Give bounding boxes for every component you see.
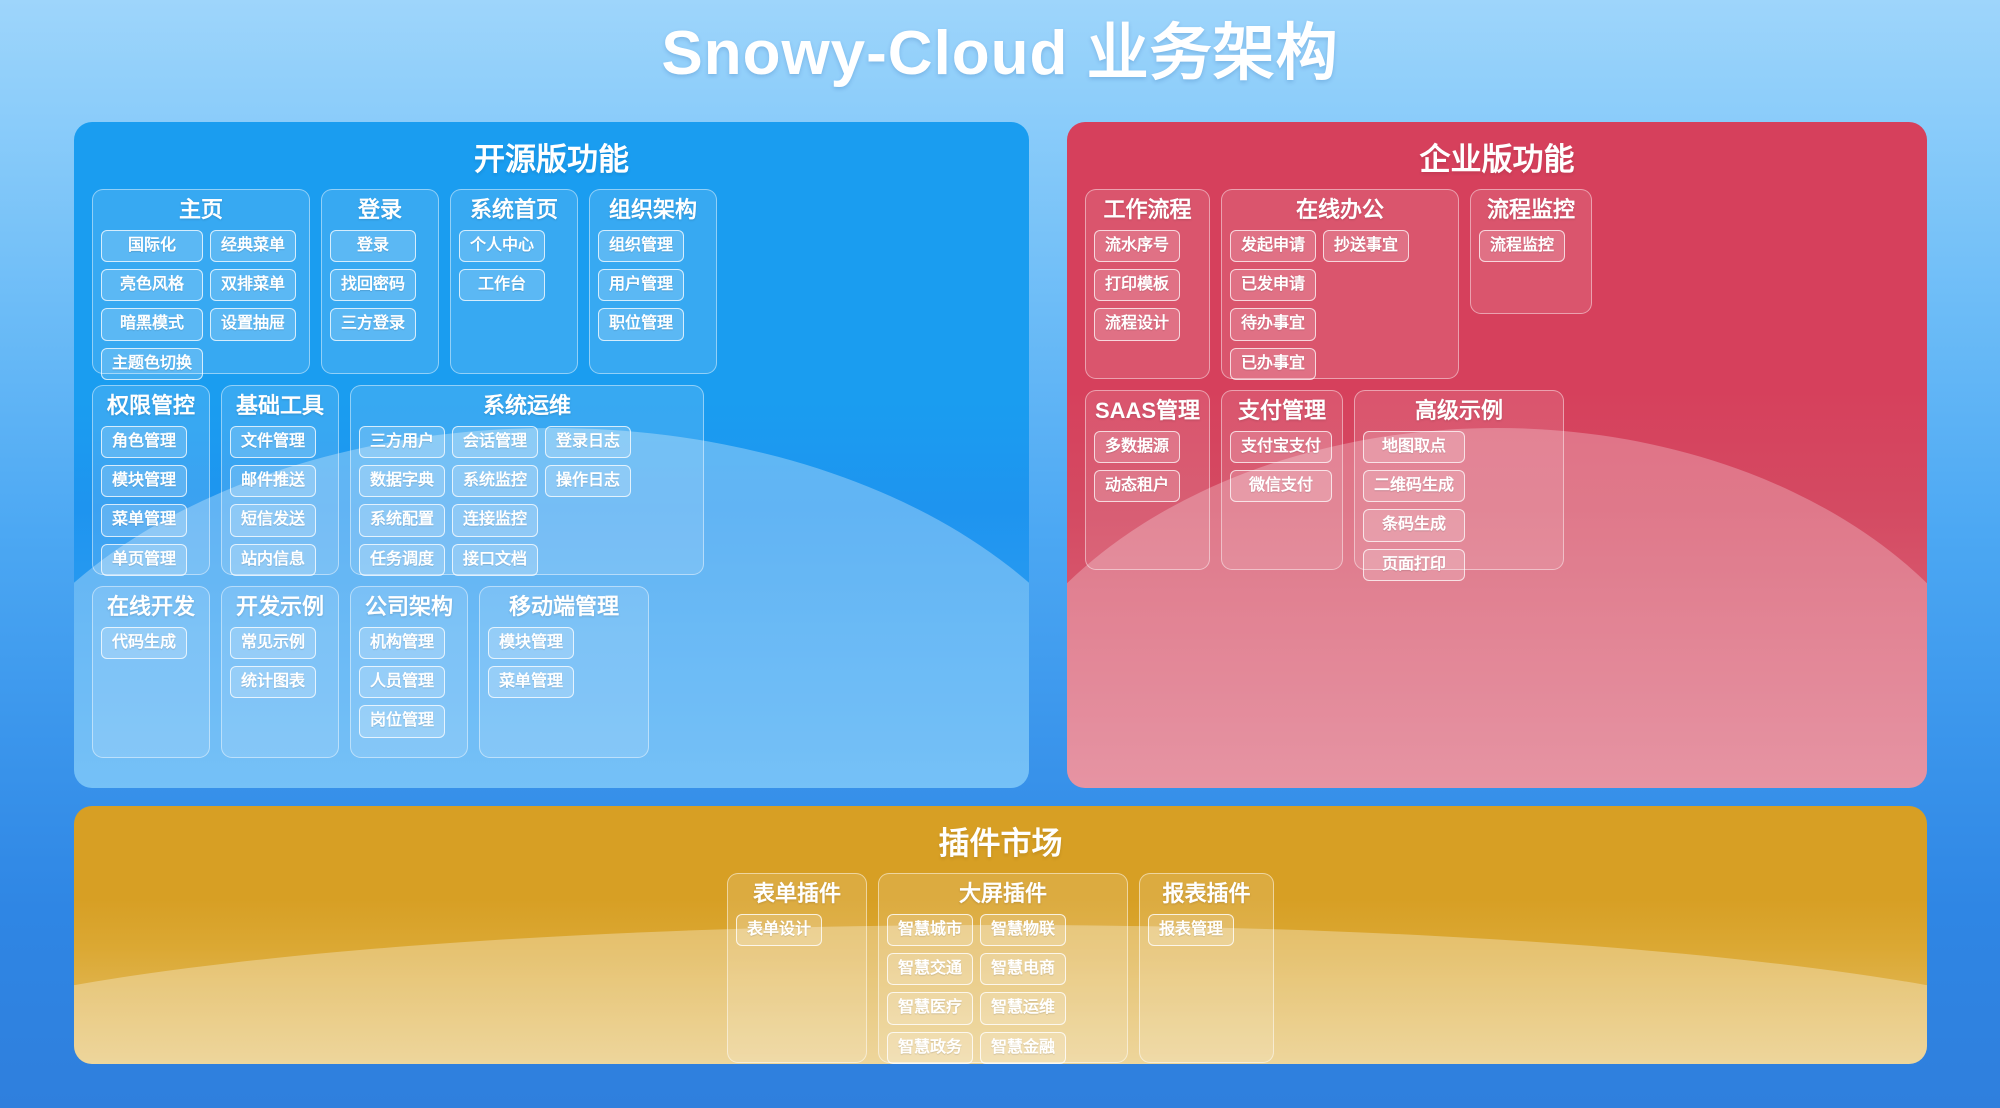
- group-登录: 登录登录找回密码三方登录: [321, 189, 439, 374]
- feature-chip-登录[interactable]: 登录: [330, 230, 416, 262]
- group-column: 登录日志操作日志: [545, 426, 631, 577]
- group-columns: 表单设计: [736, 914, 858, 946]
- group-表单插件: 表单插件表单设计: [727, 873, 867, 1063]
- group-column: 抄送事宜: [1323, 230, 1409, 381]
- feature-chip-菜单管理[interactable]: 菜单管理: [101, 504, 187, 536]
- group-columns: 个人中心工作台: [459, 230, 569, 302]
- feature-chip-地图取点[interactable]: 地图取点: [1363, 431, 1465, 463]
- feature-chip-任务调度[interactable]: 任务调度: [359, 544, 445, 576]
- feature-chip-抄送事宜[interactable]: 抄送事宜: [1323, 230, 1409, 262]
- group-column: 组织管理用户管理职位管理: [598, 230, 684, 341]
- group-column: 智慧城市智慧交通智慧医疗智慧政务: [887, 914, 973, 1065]
- feature-chip-单页管理[interactable]: 单页管理: [101, 544, 187, 576]
- open-source-panel: 开源版功能 主页国际化亮色风格暗黑模式主题色切换经典菜单双排菜单设置抽屉登录登录…: [74, 122, 1029, 788]
- feature-chip-智慧电商[interactable]: 智慧电商: [980, 953, 1066, 985]
- group-columns: 国际化亮色风格暗黑模式主题色切换经典菜单双排菜单设置抽屉: [101, 230, 301, 381]
- feature-chip-发起申请[interactable]: 发起申请: [1230, 230, 1316, 262]
- feature-chip-打印模板[interactable]: 打印模板: [1094, 269, 1180, 301]
- page-title: Snowy-Cloud 业务架构: [0, 0, 2000, 96]
- group-columns: 登录找回密码三方登录: [330, 230, 430, 341]
- group-columns: 模块管理菜单管理: [488, 627, 640, 699]
- feature-chip-常见示例[interactable]: 常见示例: [230, 627, 316, 659]
- group-column: 发起申请已发申请待办事宜已办事宜: [1230, 230, 1316, 381]
- group-title: 开发示例: [230, 593, 330, 621]
- group-column: 经典菜单双排菜单设置抽屉: [210, 230, 296, 381]
- group-title: 支付管理: [1230, 397, 1334, 425]
- feature-chip-统计图表[interactable]: 统计图表: [230, 666, 316, 698]
- group-title: 在线办公: [1230, 196, 1450, 224]
- plugin-market-rows: 表单插件表单设计大屏插件智慧城市智慧交通智慧医疗智慧政务智慧物联智慧电商智慧运维…: [92, 873, 1909, 1063]
- feature-chip-代码生成[interactable]: 代码生成: [101, 627, 187, 659]
- feature-chip-动态租户[interactable]: 动态租户: [1094, 470, 1180, 502]
- group-开发示例: 开发示例常见示例统计图表: [221, 586, 339, 758]
- plugin-market-panel-title: 插件市场: [92, 818, 1909, 863]
- feature-chip-主题色切换[interactable]: 主题色切换: [101, 348, 203, 380]
- group-columns: 发起申请已发申请待办事宜已办事宜抄送事宜: [1230, 230, 1450, 381]
- feature-chip-登录日志[interactable]: 登录日志: [545, 426, 631, 458]
- group-高级示例: 高级示例地图取点二维码生成条码生成页面打印: [1354, 390, 1564, 570]
- feature-chip-流程监控[interactable]: 流程监控: [1479, 230, 1565, 262]
- group-大屏插件: 大屏插件智慧城市智慧交通智慧医疗智慧政务智慧物联智慧电商智慧运维智慧金融: [878, 873, 1128, 1063]
- feature-chip-经典菜单[interactable]: 经典菜单: [210, 230, 296, 262]
- group-row: 在线开发代码生成开发示例常见示例统计图表公司架构机构管理人员管理岗位管理移动端管…: [92, 586, 1011, 758]
- group-title: 登录: [330, 196, 430, 224]
- feature-chip-微信支付[interactable]: 微信支付: [1230, 470, 1332, 502]
- group-column: 代码生成: [101, 627, 187, 659]
- feature-chip-数据字典[interactable]: 数据字典: [359, 465, 445, 497]
- feature-chip-智慧城市[interactable]: 智慧城市: [887, 914, 973, 946]
- group-报表插件: 报表插件报表管理: [1139, 873, 1274, 1063]
- feature-chip-菜单管理[interactable]: 菜单管理: [488, 666, 574, 698]
- group-saas管理: SAAS管理多数据源动态租户: [1085, 390, 1210, 570]
- group-column: 三方用户数据字典系统配置任务调度: [359, 426, 445, 577]
- group-在线办公: 在线办公发起申请已发申请待办事宜已办事宜抄送事宜: [1221, 189, 1459, 379]
- feature-chip-智慧政务[interactable]: 智慧政务: [887, 1032, 973, 1064]
- group-column: 流水序号打印模板流程设计: [1094, 230, 1180, 341]
- group-移动端管理: 移动端管理模块管理菜单管理: [479, 586, 649, 758]
- group-columns: 代码生成: [101, 627, 201, 659]
- feature-chip-找回密码[interactable]: 找回密码: [330, 269, 416, 301]
- feature-chip-会话管理[interactable]: 会话管理: [452, 426, 538, 458]
- group-column: 会话管理系统监控连接监控接口文档: [452, 426, 538, 577]
- feature-chip-连接监控[interactable]: 连接监控: [452, 504, 538, 536]
- feature-chip-系统配置[interactable]: 系统配置: [359, 504, 445, 536]
- group-columns: 多数据源动态租户: [1094, 431, 1201, 503]
- feature-chip-接口文档[interactable]: 接口文档: [452, 544, 538, 576]
- group-row: 工作流程流水序号打印模板流程设计在线办公发起申请已发申请待办事宜已办事宜抄送事宜…: [1085, 189, 1909, 379]
- group-columns: 常见示例统计图表: [230, 627, 330, 699]
- group-columns: 文件管理邮件推送短信发送站内信息: [230, 426, 330, 577]
- group-column: 表单设计: [736, 914, 822, 946]
- group-公司架构: 公司架构机构管理人员管理岗位管理: [350, 586, 468, 758]
- group-title: 基础工具: [230, 392, 330, 420]
- group-columns: 流程监控: [1479, 230, 1583, 262]
- group-在线开发: 在线开发代码生成: [92, 586, 210, 758]
- group-title: 主页: [101, 196, 301, 224]
- feature-chip-机构管理[interactable]: 机构管理: [359, 627, 445, 659]
- group-column: 角色管理模块管理菜单管理单页管理: [101, 426, 187, 577]
- group-column: 机构管理人员管理岗位管理: [359, 627, 445, 738]
- group-column: 个人中心工作台: [459, 230, 545, 302]
- group-column: 登录找回密码三方登录: [330, 230, 416, 341]
- feature-chip-个人中心[interactable]: 个人中心: [459, 230, 545, 262]
- group-title: 高级示例: [1363, 397, 1555, 425]
- group-title: 系统运维: [359, 392, 695, 420]
- group-系统首页: 系统首页个人中心工作台: [450, 189, 578, 374]
- feature-chip-角色管理[interactable]: 角色管理: [101, 426, 187, 458]
- enterprise-board: 企业版功能 工作流程流水序号打印模板流程设计在线办公发起申请已发申请待办事宜已办…: [1067, 122, 1927, 788]
- feature-chip-双排菜单[interactable]: 双排菜单: [210, 269, 296, 301]
- group-row: 主页国际化亮色风格暗黑模式主题色切换经典菜单双排菜单设置抽屉登录登录找回密码三方…: [92, 189, 1011, 374]
- group-column: 智慧物联智慧电商智慧运维智慧金融: [980, 914, 1066, 1065]
- group-title: 公司架构: [359, 593, 459, 621]
- enterprise-rows: 工作流程流水序号打印模板流程设计在线办公发起申请已发申请待办事宜已办事宜抄送事宜…: [1085, 189, 1909, 570]
- group-支付管理: 支付管理支付宝支付微信支付: [1221, 390, 1343, 570]
- group-流程监控: 流程监控流程监控: [1470, 189, 1592, 314]
- feature-chip-二维码生成[interactable]: 二维码生成: [1363, 470, 1465, 502]
- feature-chip-模块管理[interactable]: 模块管理: [488, 627, 574, 659]
- group-column: 流程监控: [1479, 230, 1565, 262]
- group-title: 在线开发: [101, 593, 201, 621]
- feature-chip-暗黑模式[interactable]: 暗黑模式: [101, 308, 203, 340]
- feature-chip-页面打印[interactable]: 页面打印: [1363, 549, 1465, 581]
- feature-chip-智慧交通[interactable]: 智慧交通: [887, 953, 973, 985]
- open-source-panel-title: 开源版功能: [92, 134, 1011, 179]
- feature-chip-岗位管理[interactable]: 岗位管理: [359, 705, 445, 737]
- group-title: 流程监控: [1479, 196, 1583, 224]
- group-title: 组织架构: [598, 196, 708, 224]
- feature-chip-智慧运维[interactable]: 智慧运维: [980, 992, 1066, 1024]
- feature-chip-文件管理[interactable]: 文件管理: [230, 426, 316, 458]
- feature-chip-多数据源[interactable]: 多数据源: [1094, 431, 1180, 463]
- group-基础工具: 基础工具文件管理邮件推送短信发送站内信息: [221, 385, 339, 575]
- feature-chip-待办事宜[interactable]: 待办事宜: [1230, 308, 1316, 340]
- group-column: 报表管理: [1148, 914, 1234, 946]
- group-column: 模块管理菜单管理: [488, 627, 574, 699]
- feature-chip-三方登录[interactable]: 三方登录: [330, 308, 416, 340]
- feature-chip-智慧医疗[interactable]: 智慧医疗: [887, 992, 973, 1024]
- feature-chip-系统监控[interactable]: 系统监控: [452, 465, 538, 497]
- feature-chip-流程设计[interactable]: 流程设计: [1094, 308, 1180, 340]
- group-columns: 机构管理人员管理岗位管理: [359, 627, 459, 738]
- open-source-board: 开源版功能 主页国际化亮色风格暗黑模式主题色切换经典菜单双排菜单设置抽屉登录登录…: [74, 122, 1029, 788]
- group-权限管控: 权限管控角色管理模块管理菜单管理单页管理: [92, 385, 210, 575]
- group-columns: 组织管理用户管理职位管理: [598, 230, 708, 341]
- feature-chip-用户管理[interactable]: 用户管理: [598, 269, 684, 301]
- group-columns: 支付宝支付微信支付: [1230, 431, 1334, 503]
- plugin-market-board: 插件市场 表单插件表单设计大屏插件智慧城市智慧交通智慧医疗智慧政务智慧物联智慧电…: [74, 806, 1927, 1064]
- group-columns: 角色管理模块管理菜单管理单页管理: [101, 426, 201, 577]
- group-columns: 地图取点二维码生成条码生成页面打印: [1363, 431, 1555, 582]
- open-source-rows: 主页国际化亮色风格暗黑模式主题色切换经典菜单双排菜单设置抽屉登录登录找回密码三方…: [92, 189, 1011, 758]
- feature-chip-亮色风格[interactable]: 亮色风格: [101, 269, 203, 301]
- group-row: SAAS管理多数据源动态租户支付管理支付宝支付微信支付高级示例地图取点二维码生成…: [1085, 390, 1909, 570]
- group-row: 权限管控角色管理模块管理菜单管理单页管理基础工具文件管理邮件推送短信发送站内信息…: [92, 385, 1011, 575]
- feature-chip-邮件推送[interactable]: 邮件推送: [230, 465, 316, 497]
- group-column: 国际化亮色风格暗黑模式主题色切换: [101, 230, 203, 381]
- feature-chip-报表管理[interactable]: 报表管理: [1148, 914, 1234, 946]
- feature-chip-已办事宜[interactable]: 已办事宜: [1230, 348, 1316, 380]
- feature-chip-人员管理[interactable]: 人员管理: [359, 666, 445, 698]
- group-columns: 智慧城市智慧交通智慧医疗智慧政务智慧物联智慧电商智慧运维智慧金融: [887, 914, 1119, 1065]
- group-row: 表单插件表单设计大屏插件智慧城市智慧交通智慧医疗智慧政务智慧物联智慧电商智慧运维…: [92, 873, 1909, 1063]
- feature-chip-工作台[interactable]: 工作台: [459, 269, 545, 301]
- enterprise-panel-title: 企业版功能: [1085, 134, 1909, 179]
- group-工作流程: 工作流程流水序号打印模板流程设计: [1085, 189, 1210, 379]
- feature-chip-支付宝支付[interactable]: 支付宝支付: [1230, 431, 1332, 463]
- group-title: 大屏插件: [887, 880, 1119, 908]
- group-title: 工作流程: [1094, 196, 1201, 224]
- feature-chip-设置抽屉[interactable]: 设置抽屉: [210, 308, 296, 340]
- feature-chip-流水序号[interactable]: 流水序号: [1094, 230, 1180, 262]
- feature-chip-组织管理[interactable]: 组织管理: [598, 230, 684, 262]
- feature-chip-智慧金融[interactable]: 智慧金融: [980, 1032, 1066, 1064]
- group-title: 权限管控: [101, 392, 201, 420]
- group-组织架构: 组织架构组织管理用户管理职位管理: [589, 189, 717, 374]
- feature-chip-已发申请[interactable]: 已发申请: [1230, 269, 1316, 301]
- group-title: 报表插件: [1148, 880, 1265, 908]
- feature-chip-国际化[interactable]: 国际化: [101, 230, 203, 262]
- feature-chip-职位管理[interactable]: 职位管理: [598, 308, 684, 340]
- feature-chip-模块管理[interactable]: 模块管理: [101, 465, 187, 497]
- group-title: 表单插件: [736, 880, 858, 908]
- feature-chip-智慧物联[interactable]: 智慧物联: [980, 914, 1066, 946]
- feature-chip-短信发送[interactable]: 短信发送: [230, 504, 316, 536]
- feature-chip-三方用户[interactable]: 三方用户: [359, 426, 445, 458]
- plugin-market-panel: 插件市场 表单插件表单设计大屏插件智慧城市智慧交通智慧医疗智慧政务智慧物联智慧电…: [74, 806, 1927, 1064]
- feature-chip-表单设计[interactable]: 表单设计: [736, 914, 822, 946]
- group-column: 常见示例统计图表: [230, 627, 316, 699]
- feature-chip-操作日志[interactable]: 操作日志: [545, 465, 631, 497]
- group-column: 多数据源动态租户: [1094, 431, 1180, 503]
- feature-chip-站内信息[interactable]: 站内信息: [230, 544, 316, 576]
- group-column: 地图取点二维码生成条码生成页面打印: [1363, 431, 1465, 582]
- enterprise-panel: 企业版功能 工作流程流水序号打印模板流程设计在线办公发起申请已发申请待办事宜已办…: [1067, 122, 1927, 788]
- group-column: 支付宝支付微信支付: [1230, 431, 1332, 503]
- group-title: 系统首页: [459, 196, 569, 224]
- group-columns: 流水序号打印模板流程设计: [1094, 230, 1201, 341]
- group-column: 文件管理邮件推送短信发送站内信息: [230, 426, 316, 577]
- group-主页: 主页国际化亮色风格暗黑模式主题色切换经典菜单双排菜单设置抽屉: [92, 189, 310, 374]
- feature-chip-条码生成[interactable]: 条码生成: [1363, 509, 1465, 541]
- group-title: 移动端管理: [488, 593, 640, 621]
- group-title: SAAS管理: [1094, 397, 1201, 425]
- group-系统运维: 系统运维三方用户数据字典系统配置任务调度会话管理系统监控连接监控接口文档登录日志…: [350, 385, 704, 575]
- group-columns: 报表管理: [1148, 914, 1265, 946]
- group-columns: 三方用户数据字典系统配置任务调度会话管理系统监控连接监控接口文档登录日志操作日志: [359, 426, 695, 577]
